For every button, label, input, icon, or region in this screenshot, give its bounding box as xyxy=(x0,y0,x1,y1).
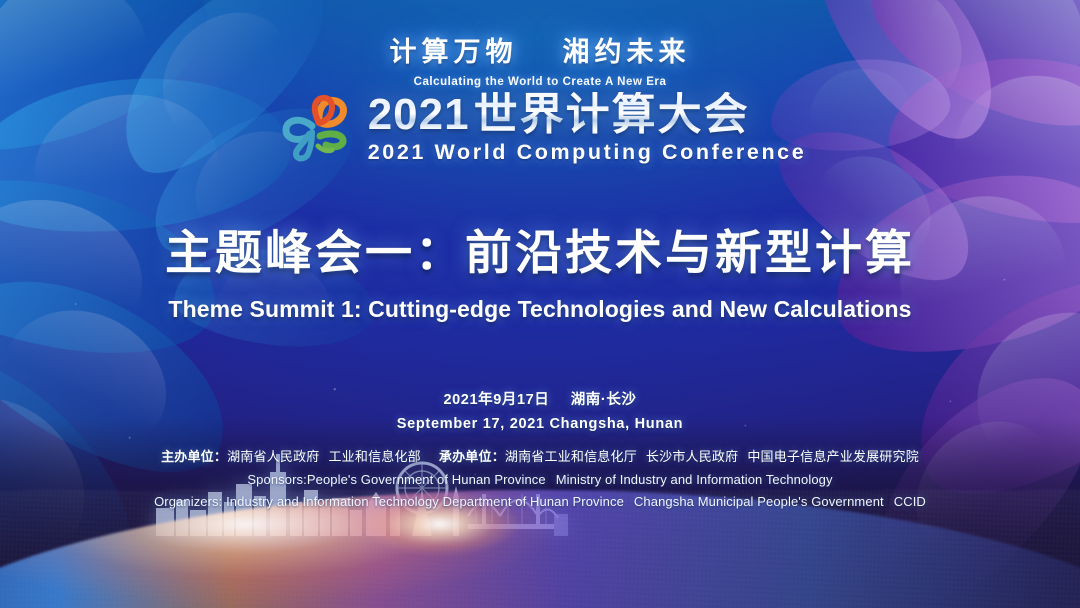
organizer-chinese-3: 中国电子信息产业发展研究院 xyxy=(747,449,919,464)
sponsors-english-primary: Sponsors:People's Government of Hunan Pr… xyxy=(247,472,545,487)
conference-lockup: 2021世界计算大会 2021 World Computing Conferen… xyxy=(0,92,1080,165)
conference-title-english: 2021 World Computing Conference xyxy=(368,140,807,165)
sponsors-english-line: Sponsors:People's Government of Hunan Pr… xyxy=(0,472,1080,487)
summit-title-chinese: 主题峰会一：前沿技术与新型计算 xyxy=(0,214,1080,283)
banner-content: 计算万物 湘约未来 Calculating the World to Creat… xyxy=(0,0,1080,608)
conference-title-chinese: 2021世界计算大会 xyxy=(368,92,807,138)
organizer-chinese-2: 长沙市人民政府 xyxy=(646,449,738,464)
event-date-english: September 17, 2021 xyxy=(397,416,545,432)
organizer-chinese-1: 湖南省工业和信息化厅 xyxy=(505,449,637,464)
organizers-chinese-line: 主办单位：湖南省人民政府工业和信息化部承办单位：湖南省工业和信息化厅长沙市人民政… xyxy=(0,446,1080,465)
slogan-block: 计算万物 湘约未来 Calculating the World to Creat… xyxy=(0,30,1080,88)
butterfly-flower-logo-icon xyxy=(274,92,354,164)
sponsor-chinese-2: 工业和信息化部 xyxy=(328,449,420,464)
summit-title-english: Theme Summit 1: Cutting-edge Technologie… xyxy=(0,296,1080,323)
organizers-english-line: Organizers: Industry and Information Tec… xyxy=(0,494,1080,509)
conference-name-chinese: 世界计算大会 xyxy=(474,90,750,139)
organizers-english-ccid: CCID xyxy=(894,494,926,509)
organizers-label-chinese: 承办单位： xyxy=(439,449,505,464)
conference-banner: 计算万物 湘约未来 Calculating the World to Creat… xyxy=(0,0,1080,608)
event-location-chinese: 湖南·长沙 xyxy=(571,392,637,408)
summit-title-block: 主题峰会一：前沿技术与新型计算 Theme Summit 1: Cutting-… xyxy=(0,214,1080,323)
slogan-english: Calculating the World to Create A New Er… xyxy=(0,76,1080,88)
slogan-chinese-right: 湘约未来 xyxy=(563,37,691,67)
slogan-chinese-left: 计算万物 xyxy=(389,37,517,67)
organizers-english-primary: Organizers: Industry and Information Tec… xyxy=(154,494,624,509)
event-date-chinese: 2021年9月17日 xyxy=(443,392,549,408)
conference-year: 2021 xyxy=(368,90,474,139)
sponsors-english-secondary: Ministry of Industry and Information Tec… xyxy=(556,472,833,487)
event-date-location-chinese: 2021年9月17日 湖南·长沙 xyxy=(0,388,1080,409)
sponsors-label-chinese: 主办单位： xyxy=(161,449,227,464)
organizers-block: 主办单位：湖南省人民政府工业和信息化部承办单位：湖南省工业和信息化厅长沙市人民政… xyxy=(0,446,1080,509)
event-meta-block: 2021年9月17日 湖南·长沙 September 17, 2021 Chan… xyxy=(0,388,1080,509)
organizers-english-secondary: Changsha Municipal People's Government xyxy=(634,494,884,509)
sponsor-chinese-1: 湖南省人民政府 xyxy=(227,449,319,464)
slogan-chinese: 计算万物 湘约未来 xyxy=(0,30,1080,69)
event-date-location-english: September 17, 2021 Changsha, Hunan xyxy=(0,416,1080,432)
event-location-english: Changsha, Hunan xyxy=(549,416,683,432)
conference-title-group: 2021世界计算大会 2021 World Computing Conferen… xyxy=(368,92,807,165)
